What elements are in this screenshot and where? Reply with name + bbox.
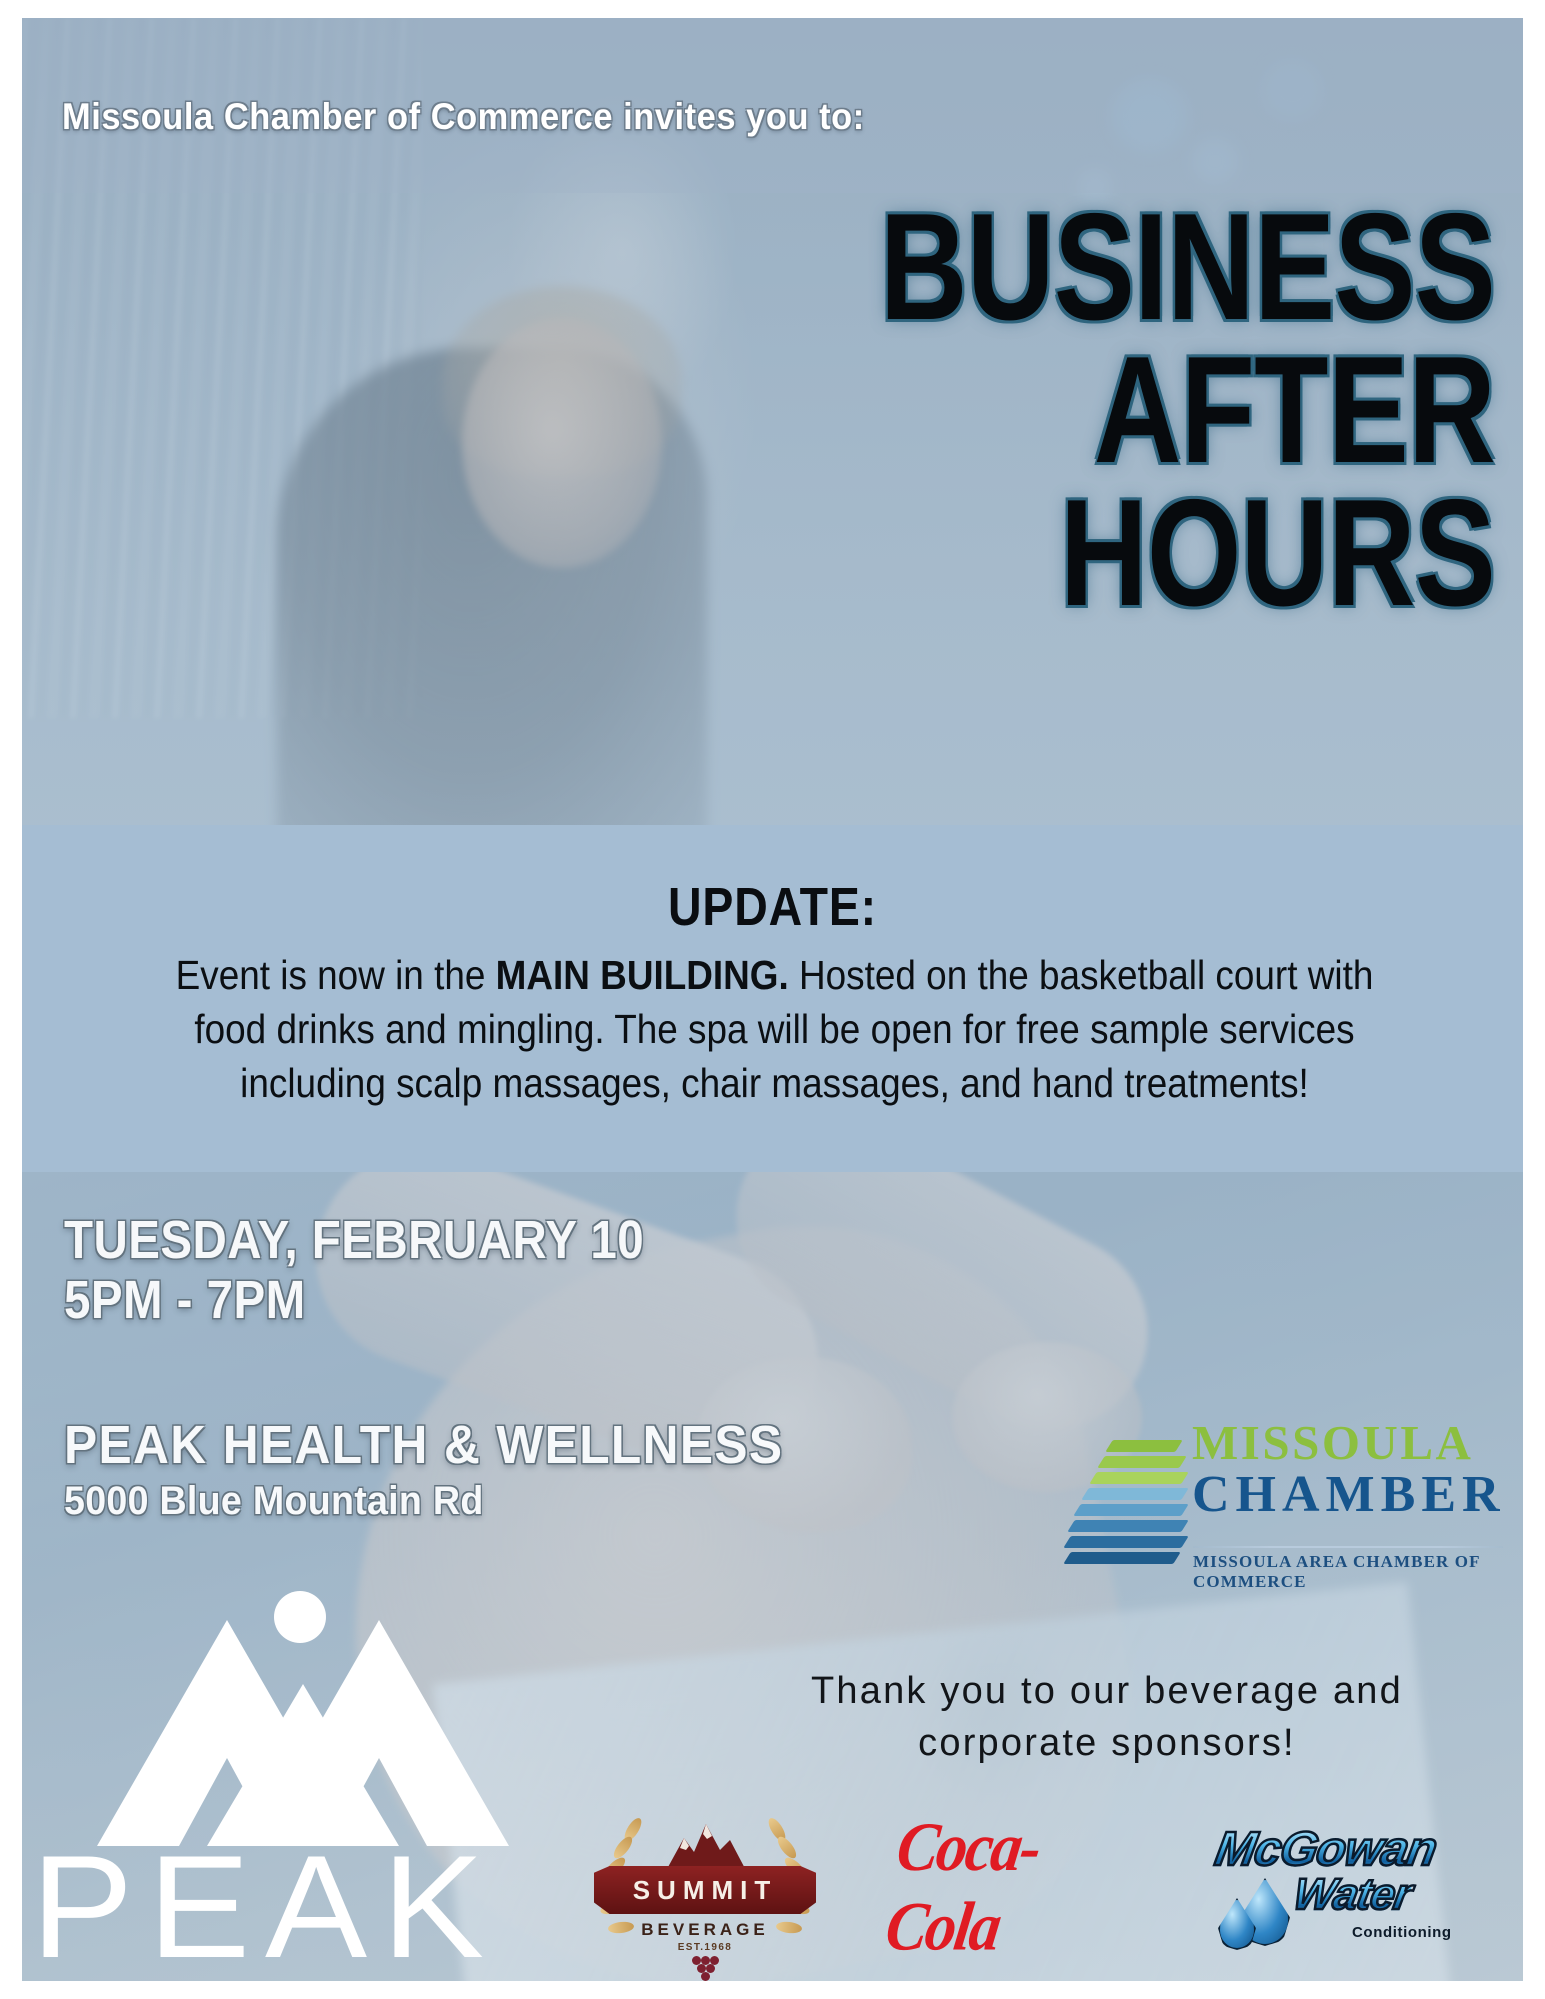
summit-word: SUMMIT: [633, 1875, 778, 1906]
event-venue: PEAK HEALTH & WELLNESS 5000 Blue Mountai…: [64, 1416, 1164, 1524]
peak-mountain-icon: [27, 1588, 647, 1846]
peak-health-wellness-logo: PEAK HEALTH & WELLNESS: [27, 1588, 647, 1981]
grapes-icon: [690, 1956, 720, 1981]
venue-address: 5000 Blue Mountain Rd: [64, 1479, 1098, 1524]
thankyou-line-2: corporate sponsors!: [712, 1718, 1502, 1770]
summit-established: EST.1968: [590, 1942, 820, 1953]
mcgowan-word-2: Water: [1290, 1870, 1415, 1920]
sponsor-logo-mcgowan-water: McGowan Water Conditioning: [1202, 1814, 1462, 1964]
event-date: TUESDAY, FEBRUARY 10: [64, 1210, 1032, 1270]
chamber-word-missoula: MISSOULA: [1192, 1418, 1507, 1467]
update-heading: UPDATE:: [127, 876, 1418, 938]
missoula-chamber-logo: MISSOULA CHAMBER MISSOULA AREA CHAMBER O…: [1067, 1418, 1507, 1593]
coca-cola-wordmark: Coca-Cola: [881, 1808, 1153, 1967]
summit-subword: BEVERAGE: [590, 1920, 820, 1940]
update-body-before: Event is now in the: [176, 952, 496, 998]
title-line-3: HOURS: [551, 482, 1495, 625]
update-body-emphasis: MAIN BUILDING.: [496, 952, 789, 998]
mcgowan-subword: Conditioning: [1352, 1924, 1452, 1941]
title-line-2: AFTER: [551, 339, 1495, 482]
title-line-1: BUSINESS: [551, 196, 1495, 339]
chamber-divider: [1193, 1546, 1503, 1548]
mcgowan-word-1: McGowan: [1211, 1822, 1440, 1877]
sponsor-logo-row: SUMMIT BEVERAGE EST.1968 Coca-Cola McGow…: [562, 1804, 1522, 1981]
sponsor-logo-summit-beverage: SUMMIT BEVERAGE EST.1968: [590, 1808, 820, 1968]
venue-name: PEAK HEALTH & WELLNESS: [64, 1416, 1076, 1475]
event-flyer: Missoula Chamber of Commerce invites you…: [22, 18, 1523, 1981]
sponsors-thankyou: Thank you to our beverage and corporate …: [712, 1666, 1502, 1769]
peak-tagline: HEALTH & WELLNESS: [37, 1976, 637, 1981]
thankyou-line-1: Thank you to our beverage and: [712, 1666, 1502, 1718]
summit-banner: SUMMIT: [594, 1866, 816, 1914]
event-time: 5PM - 7PM: [64, 1270, 1032, 1330]
sponsor-logo-coca-cola: Coca-Cola: [892, 1842, 1142, 1934]
event-datetime: TUESDAY, FEBRUARY 10 5PM - 7PM: [64, 1210, 1164, 1331]
chamber-mountain-icon: [1067, 1436, 1197, 1576]
update-body: Event is now in the MAIN BUILDING. Hoste…: [160, 948, 1389, 1110]
invite-line: Missoula Chamber of Commerce invites you…: [62, 96, 1178, 138]
page-title: BUSINESS AFTER HOURS: [315, 196, 1495, 625]
chamber-tagline: MISSOULA AREA CHAMBER OF COMMERCE: [1193, 1552, 1513, 1592]
chamber-word-chamber: CHAMBER: [1192, 1468, 1507, 1521]
